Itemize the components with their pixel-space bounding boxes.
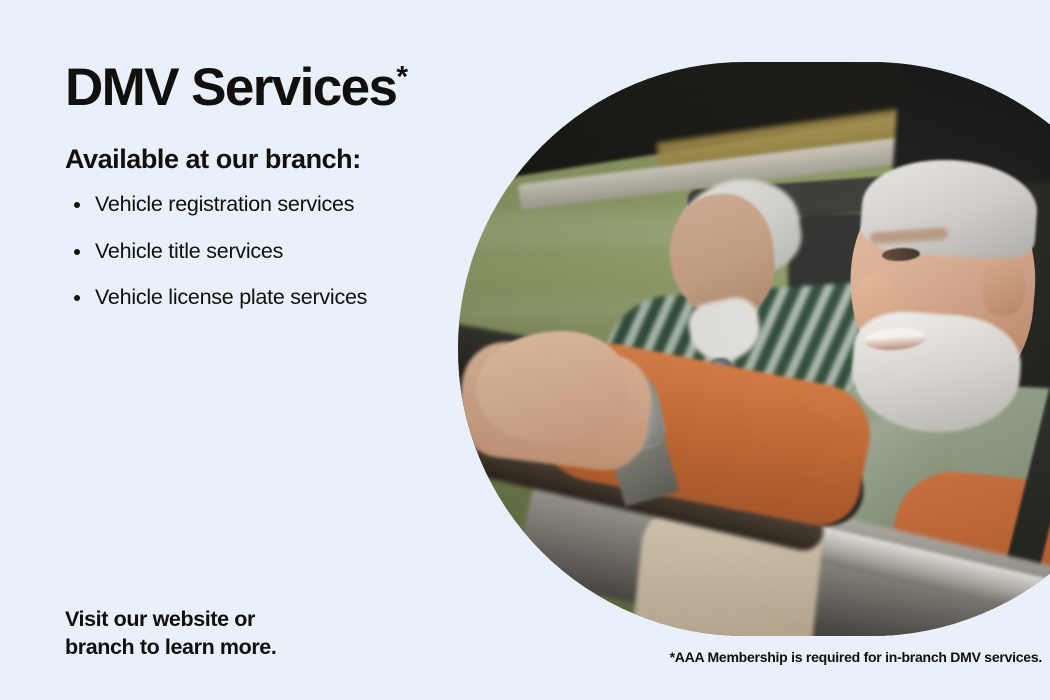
promo-banner: DMV Services* Available at our branch: V… — [0, 0, 1050, 700]
list-item-label: Vehicle license plate services — [95, 285, 367, 309]
list-item-label: Vehicle title services — [95, 239, 283, 263]
list-item: Vehicle license plate services — [65, 286, 465, 310]
photo-man-ear — [982, 258, 1026, 316]
copy-block: DMV Services* Available at our branch: V… — [65, 60, 465, 310]
disclaimer-footnote: *AAA Membership is required for in-branc… — [670, 649, 1042, 665]
hero-photo — [458, 62, 1050, 636]
page-title-asterisk: * — [396, 60, 408, 93]
page-title-text: DMV Services — [65, 58, 396, 117]
hero-photo-image — [458, 62, 1050, 636]
bullet-icon — [74, 295, 80, 301]
subheading: Available at our branch: — [65, 144, 465, 175]
list-item: Vehicle title services — [65, 240, 465, 264]
call-to-action-line-2: branch to learn more. — [65, 634, 276, 662]
services-list: Vehicle registration services Vehicle ti… — [65, 193, 465, 310]
page-title: DMV Services* — [65, 60, 465, 115]
call-to-action-line-1: Visit our website or — [65, 606, 276, 634]
bullet-icon — [74, 202, 80, 208]
list-item-label: Vehicle registration services — [95, 192, 354, 216]
bullet-icon — [74, 249, 80, 255]
list-item: Vehicle registration services — [65, 193, 465, 217]
call-to-action: Visit our website or branch to learn mor… — [65, 606, 276, 661]
